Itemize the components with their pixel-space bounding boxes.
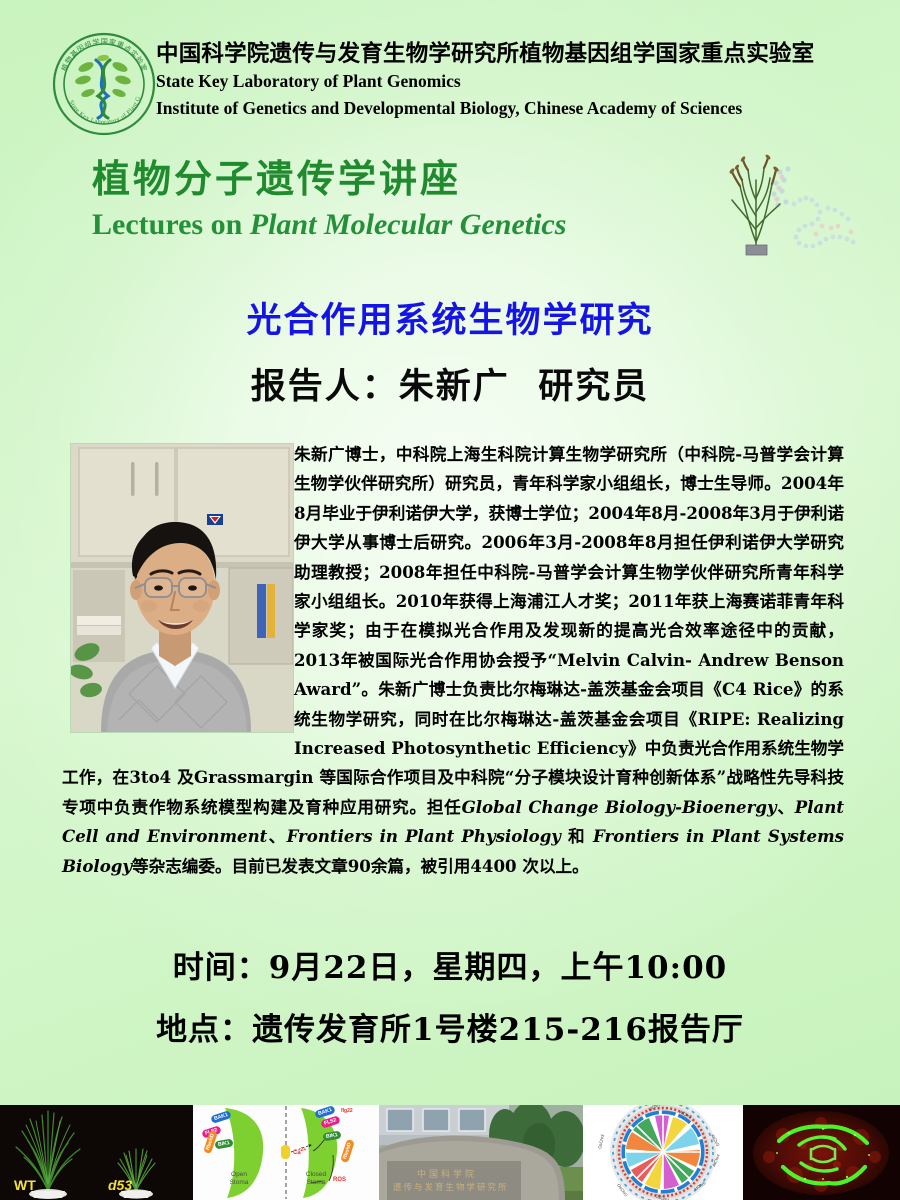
series-title-en: Lectures on Plant Molecular Genetics (92, 208, 692, 242)
open-stoma-caption: OpenStoma (219, 1171, 259, 1187)
journal-2: Cell and Environment (62, 826, 267, 846)
series-title-en-italic: Plant Molecular Genetics (250, 208, 567, 241)
event-place: 地点：遗传发育所1号楼215-216报告厅 (0, 1004, 900, 1049)
biography-tail-text: 等杂志编委。目前已发表文章90余篇，被引用4400 次以上。 (132, 856, 589, 876)
header-title-cn: 中国科学院遗传与发育生物学研究所植物基因组学国家重点实验室 (156, 40, 892, 68)
lecture-poster: 植物基因组学国家重点实验室 State Key Laboratory of Pl… (0, 0, 900, 1200)
journal-sep-1: 、 (777, 797, 795, 817)
stomata-signaling-diagram: flg22 BAK1 FLS2 RbohD BIK1 BAK1 FLS2 BI (193, 1105, 379, 1200)
journal-2-lead: Plant (795, 797, 844, 817)
rice-label-d53: d53 (108, 1177, 132, 1193)
journal-1: Global Change Biology-Bioenergy (462, 797, 777, 817)
series-title-en-prefix: Lectures on (92, 208, 250, 241)
institute-monument-photo: 中国科学院 遗传与发育生物学研究所 (379, 1105, 583, 1200)
event-time-value: 9月22日，星期四，上午10:00 (269, 950, 727, 986)
event-place-label: 地点： (156, 1012, 252, 1048)
speaker-line: 报告人：朱新广 研究员 (0, 358, 900, 409)
photo-text-wrap-spacer (62, 440, 294, 736)
speaker-label: 报告人： (251, 366, 399, 407)
monument-inscription-line1: 中国科学院 (417, 1167, 477, 1180)
journal-conjunction: 和 (561, 826, 593, 846)
speaker-name: 朱新广 (399, 366, 510, 407)
rice-plant-with-dna-strand-icon (718, 150, 878, 262)
calcium-label: Ca2+ (293, 1147, 306, 1156)
event-time: 时间：9月22日，星期四，上午10:00 (0, 942, 900, 987)
header-title-en-line2: Institute of Genetics and Developmental … (156, 95, 892, 122)
svg-text:flg22: flg22 (341, 1108, 353, 1114)
monument-inscription-line2: 遗传与发育生物学研究所 (393, 1181, 509, 1193)
speaker-biography: 朱新广博士，中科院上海生科院计算生物学研究所（中科院-马普学会计算生物学伙伴研究… (62, 440, 844, 881)
event-time-label: 时间： (173, 950, 269, 986)
lecture-series-title: 植物分子遗传学讲座 Lectures on Plant Molecular Ge… (92, 158, 692, 242)
confocal-fluorescence-micrograph (743, 1105, 900, 1200)
rice-label-wt: WT (14, 1177, 36, 1193)
header-title-en-line1: State Key Laboratory of Plant Genomics (156, 68, 892, 95)
speaker-rank: 研究员 (538, 366, 649, 407)
journal-sep-2: 、 (267, 826, 286, 846)
footer-image-strip: WT d53 flg22 (0, 1105, 900, 1200)
state-key-laboratory-logo: 植物基因组学国家重点实验室 State Key Laboratory of Pl… (52, 32, 156, 136)
poster-header: 植物基因组学国家重点实验室 State Key Laboratory of Pl… (0, 0, 900, 140)
journal-3: Frontiers in Plant Physiology (287, 826, 561, 846)
lecture-title-cn: 光合作用系统生物学研究 (0, 292, 900, 343)
rice-phenotype-photo: WT d53 (0, 1105, 193, 1200)
event-place-value: 遗传发育所1号楼215-216报告厅 (252, 1012, 744, 1048)
circos-genome-plot: AtChr1 AtChr2 AtChr3 AtChr4 AtChr5 OsChr… (583, 1105, 743, 1200)
series-title-cn: 植物分子遗传学讲座 (92, 158, 692, 202)
closed-stoma-caption: ClosedStoma (295, 1171, 337, 1187)
